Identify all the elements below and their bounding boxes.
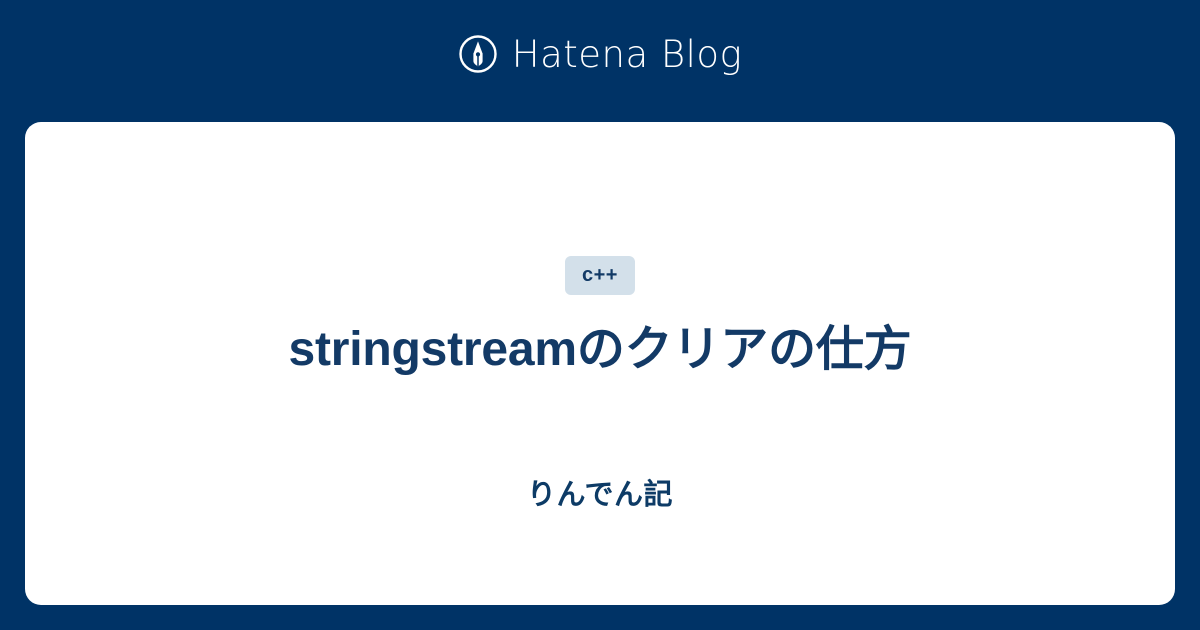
category-badge[interactable]: c++ [565,256,635,295]
pen-nib-in-circle-icon [458,34,498,74]
brand-name: Hatena Blog [512,36,743,73]
entry-title: stringstreamのクリアの仕方 [289,321,912,380]
entry-card: c++ stringstreamのクリアの仕方 りんでん記 [25,122,1175,605]
hatena-blog-logo [458,34,498,74]
blog-name[interactable]: りんでん記 [527,478,673,513]
category-badge-row: c++ [565,256,635,295]
brand-header: Hatena Blog [0,0,1200,122]
